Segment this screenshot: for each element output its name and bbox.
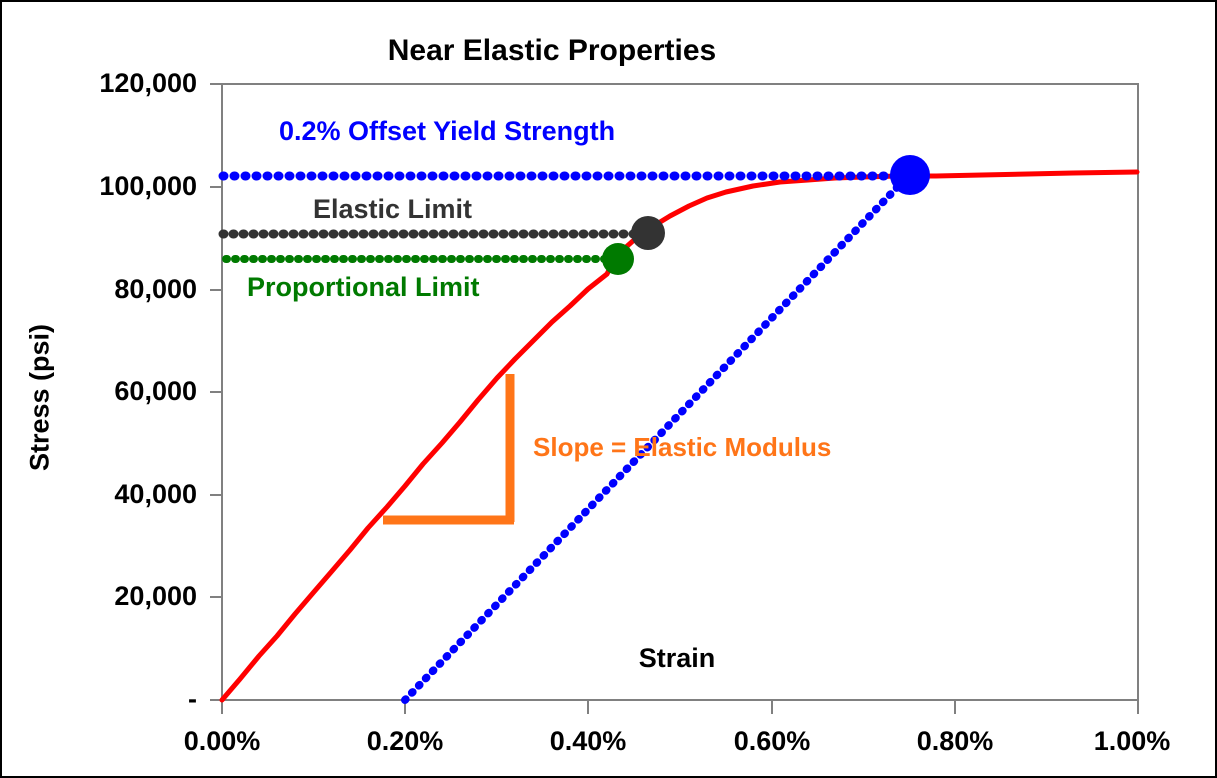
proportional-limit-marker [602, 243, 634, 275]
y-tick-label-120000: 120,000 [17, 68, 197, 99]
x-axis-ticks [222, 700, 1138, 714]
x-tick-label-0-60: 0.60% [682, 726, 862, 757]
y-tick-label-40000: 40,000 [17, 479, 197, 510]
x-tick-label-0-80: 0.80% [865, 726, 1045, 757]
elastic-limit-label: Elastic Limit [313, 194, 472, 225]
proportional-limit-label: Proportional Limit [247, 272, 480, 303]
y-tick-label-80000: 80,000 [17, 274, 197, 305]
x-tick-label-0-20: 0.20% [315, 726, 495, 757]
y-tick-label-20000: 20,000 [17, 581, 197, 612]
chart-container: Near Elastic Properties Stress (psi) Str… [0, 0, 1217, 778]
x-tick-label-0-40: 0.40% [498, 726, 678, 757]
chart-title: Near Elastic Properties [2, 34, 1102, 68]
elastic-limit-marker [631, 216, 665, 250]
slope-elastic-modulus-label: Slope = Elastic Modulus [533, 432, 831, 463]
elastic-modulus-slope-triangle [383, 374, 514, 522]
y-tick-label-60000: 60,000 [17, 376, 197, 407]
y-tick-label-zero: - [17, 684, 197, 715]
x-tick-label-0-00: 0.00% [132, 726, 312, 757]
x-axis-title: Strain [562, 643, 792, 674]
x-tick-label-1-00: 1.00% [1042, 726, 1217, 757]
offset-yield-marker [890, 155, 930, 195]
offset-yield-strength-label: 0.2% Offset Yield Strength [279, 116, 615, 147]
y-tick-label-100000: 100,000 [17, 171, 197, 202]
